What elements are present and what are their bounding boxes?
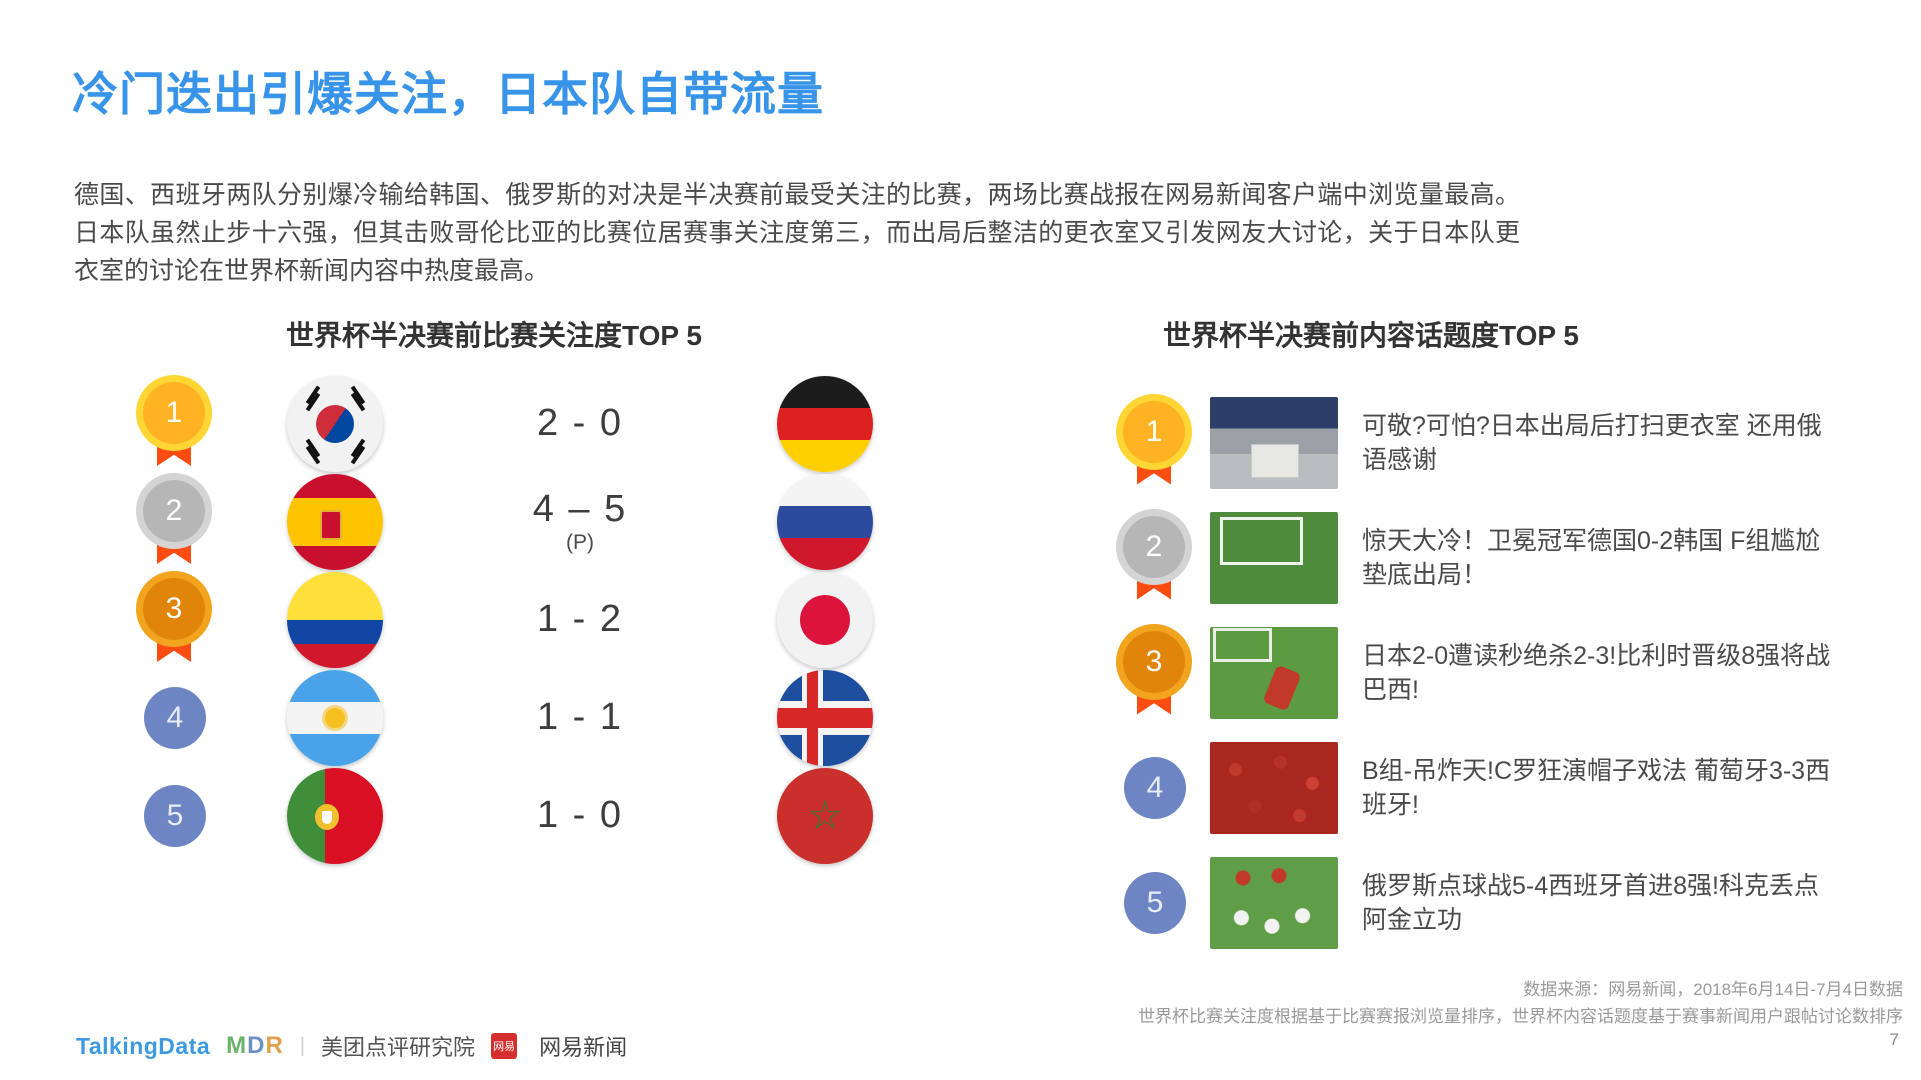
rank-number: 4: [167, 701, 184, 735]
medal-gold-icon: 1: [143, 382, 207, 466]
table-row: 1 2 - 0: [110, 375, 920, 473]
away-flag-cell: [730, 572, 920, 668]
rank-number: 4: [1147, 771, 1164, 805]
rank-number: 1: [1123, 401, 1185, 463]
news-thumbnail: [1210, 512, 1338, 604]
rank-cell: 3: [110, 578, 240, 662]
away-flag-cell: [730, 474, 920, 570]
flag-portugal-icon: [287, 768, 383, 864]
match-score: 4 – 5 (P): [430, 490, 730, 554]
list-item[interactable]: 4 B组-吊炸天!C罗狂演帽子戏法 葡萄牙3-3西班牙!: [1100, 730, 1900, 845]
score-text: 1 - 0: [537, 794, 623, 836]
right-section-heading: 世界杯半决赛前内容话题度TOP 5: [1163, 314, 1579, 354]
flag-russia-icon: [777, 474, 873, 570]
rank-number: 1: [143, 382, 205, 444]
table-row: 2 4 – 5 (P): [110, 473, 920, 571]
match-score: 1 - 1: [430, 698, 730, 738]
rank-number: 3: [143, 578, 205, 640]
spain-crest: [320, 510, 342, 540]
list-item[interactable]: 2 惊天大冷！卫冕冠军德国0-2韩国 F组尴尬垫底出局！: [1100, 500, 1900, 615]
score-text: 1 - 2: [537, 598, 623, 640]
rank-cell: 1: [1100, 401, 1210, 485]
medal-bronze-icon: 3: [143, 578, 207, 662]
table-row: 4 1 - 1: [110, 669, 920, 767]
japan-sun: [800, 595, 850, 645]
news-ranking-list: 1 可敬?可怕?日本出局后打扫更衣室 还用俄语感谢 2 惊天大冷！卫冕冠军德国0…: [1100, 385, 1900, 960]
flag-morocco-icon: ☆: [777, 768, 873, 864]
list-item[interactable]: 3 日本2-0遭读秒绝杀2-3!比利时晋级8强将战巴西!: [1100, 615, 1900, 730]
rank-cell: 2: [110, 480, 240, 564]
home-flag-cell: [240, 474, 430, 570]
rank-cell: 1: [110, 382, 240, 466]
footer-logos: TalkingData MDR | 美团点评研究院 网易 网易新闻: [76, 1030, 627, 1062]
flag-korea-icon: [287, 376, 383, 472]
medal-bronze-icon: 3: [1123, 631, 1187, 715]
score-text: 4 – 5: [533, 488, 628, 530]
taeguk-shape: [309, 398, 362, 451]
news-title[interactable]: 日本2-0遭读秒绝杀2-3!比利时晋级8强将战巴西!: [1362, 639, 1832, 707]
rank-number: 2: [143, 480, 205, 542]
away-flag-cell: [730, 376, 920, 472]
news-thumbnail: [1210, 857, 1338, 949]
rank-badge: 5: [1124, 872, 1186, 934]
source-line-2: 世界杯比赛关注度根据基于比赛赛报浏览量排序，世界杯内容话题度基于赛事新闻用户跟帖…: [1003, 1003, 1903, 1030]
logo-divider: |: [300, 1035, 305, 1058]
intro-paragraph: 德国、西班牙两队分别爆冷输给韩国、俄罗斯的对决是半决赛前最受关注的比赛，两场比赛…: [74, 176, 1520, 290]
news-thumbnail: [1210, 742, 1338, 834]
table-row: 3 1 - 2: [110, 571, 920, 669]
away-flag-cell: [730, 670, 920, 766]
news-title[interactable]: 惊天大冷！卫冕冠军德国0-2韩国 F组尴尬垫底出局！: [1362, 524, 1832, 592]
medal-gold-icon: 1: [1123, 401, 1187, 485]
rank-number: 3: [1123, 631, 1185, 693]
flag-iceland-icon: [777, 670, 873, 766]
left-section-heading: 世界杯半决赛前比赛关注度TOP 5: [286, 314, 702, 354]
match-ranking-list: 1 2 - 0: [110, 375, 920, 865]
flag-japan-icon: [777, 572, 873, 668]
rank-number: 2: [1123, 516, 1185, 578]
news-thumbnail: [1210, 397, 1338, 489]
score-text: 1 - 1: [537, 696, 623, 738]
rank-cell: 5: [1100, 872, 1210, 934]
news-title[interactable]: 俄罗斯点球战5-4西班牙首进8强!科克丢点阿金立功: [1362, 869, 1832, 937]
medal-silver-icon: 2: [1123, 516, 1187, 600]
mdr-logo: MDR: [226, 1032, 284, 1060]
flag-argentina-icon: [287, 670, 383, 766]
home-flag-cell: [240, 376, 430, 472]
score-note: (P): [430, 532, 730, 554]
flag-spain-icon: [287, 474, 383, 570]
match-score: 1 - 2: [430, 600, 730, 640]
list-item[interactable]: 5 俄罗斯点球战5-4西班牙首进8强!科克丢点阿金立功: [1100, 845, 1900, 960]
rank-number: 5: [167, 799, 184, 833]
match-score: 2 - 0: [430, 404, 730, 444]
away-flag-cell: ☆: [730, 768, 920, 864]
rank-badge: 5: [144, 785, 206, 847]
rank-badge: 4: [144, 687, 206, 749]
news-title[interactable]: B组-吊炸天!C罗狂演帽子戏法 葡萄牙3-3西班牙!: [1362, 754, 1832, 822]
rank-cell: 2: [1100, 516, 1210, 600]
talkingdata-logo: TalkingData: [76, 1033, 210, 1060]
meituan-research-logo: 美团点评研究院: [321, 1030, 475, 1062]
page-title: 冷门迭出引爆关注，日本队自带流量: [72, 58, 824, 124]
rank-cell: 4: [1100, 757, 1210, 819]
rank-cell: 4: [110, 687, 240, 749]
score-text: 2 - 0: [537, 402, 623, 444]
morocco-star: ☆: [807, 796, 843, 836]
source-line-1: 数据来源：网易新闻，2018年6月14日-7月4日数据: [1003, 976, 1903, 1003]
flag-germany-icon: [777, 376, 873, 472]
argentina-sun: [325, 708, 345, 728]
news-thumbnail: [1210, 627, 1338, 719]
rank-cell: 3: [1100, 631, 1210, 715]
flag-colombia-icon: [287, 572, 383, 668]
medal-silver-icon: 2: [143, 480, 207, 564]
match-score: 1 - 0: [430, 796, 730, 836]
netease-mark-icon: 网易: [491, 1033, 517, 1059]
news-title[interactable]: 可敬?可怕?日本出局后打扫更衣室 还用俄语感谢: [1362, 409, 1832, 477]
home-flag-cell: [240, 768, 430, 864]
rank-cell: 5: [110, 785, 240, 847]
rank-number: 5: [1147, 886, 1164, 920]
source-note: 数据来源：网易新闻，2018年6月14日-7月4日数据 世界杯比赛关注度根据基于…: [1003, 976, 1903, 1030]
home-flag-cell: [240, 572, 430, 668]
rank-badge: 4: [1124, 757, 1186, 819]
list-item[interactable]: 1 可敬?可怕?日本出局后打扫更衣室 还用俄语感谢: [1100, 385, 1900, 500]
table-row: 5 1 - 0 ☆: [110, 767, 920, 865]
home-flag-cell: [240, 670, 430, 766]
netease-news-logo: 网易新闻: [539, 1030, 627, 1062]
page-number: 7: [1890, 1030, 1899, 1050]
